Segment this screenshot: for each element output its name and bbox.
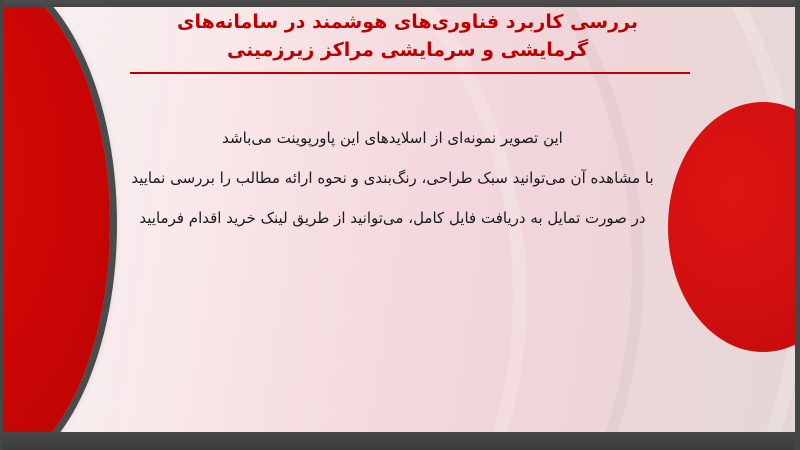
frame-left-bar — [0, 0, 3, 450]
title-underline-rule — [130, 72, 690, 74]
frame-right-bar — [795, 0, 800, 450]
slide-content: بررسی کاربرد فناوری‌های هوشمند در سامانه… — [0, 0, 800, 450]
slide-body-line-1: این تصویر نمونه‌ای از اسلایدهای این پاور… — [60, 118, 725, 158]
presentation-slide: بررسی کاربرد فناوری‌های هوشمند در سامانه… — [0, 0, 800, 450]
slide-body-line-2: با مشاهده آن می‌توانید سبک طراحی، رنگ‌بن… — [60, 158, 725, 198]
slide-title: بررسی کاربرد فناوری‌های هوشمند در سامانه… — [110, 8, 705, 64]
frame-bottom-bar — [0, 432, 800, 450]
frame-top-bar — [0, 0, 800, 7]
slide-body-line-3: در صورت تمایل به دریافت فایل کامل، می‌تو… — [60, 198, 725, 238]
slide-body-text: این تصویر نمونه‌ای از اسلایدهای این پاور… — [60, 118, 725, 238]
slide-title-line-1: بررسی کاربرد فناوری‌های هوشمند در سامانه… — [110, 8, 705, 36]
slide-title-line-2: گرمایشی و سرمایشی مراکز زیرزمینی — [110, 36, 705, 64]
